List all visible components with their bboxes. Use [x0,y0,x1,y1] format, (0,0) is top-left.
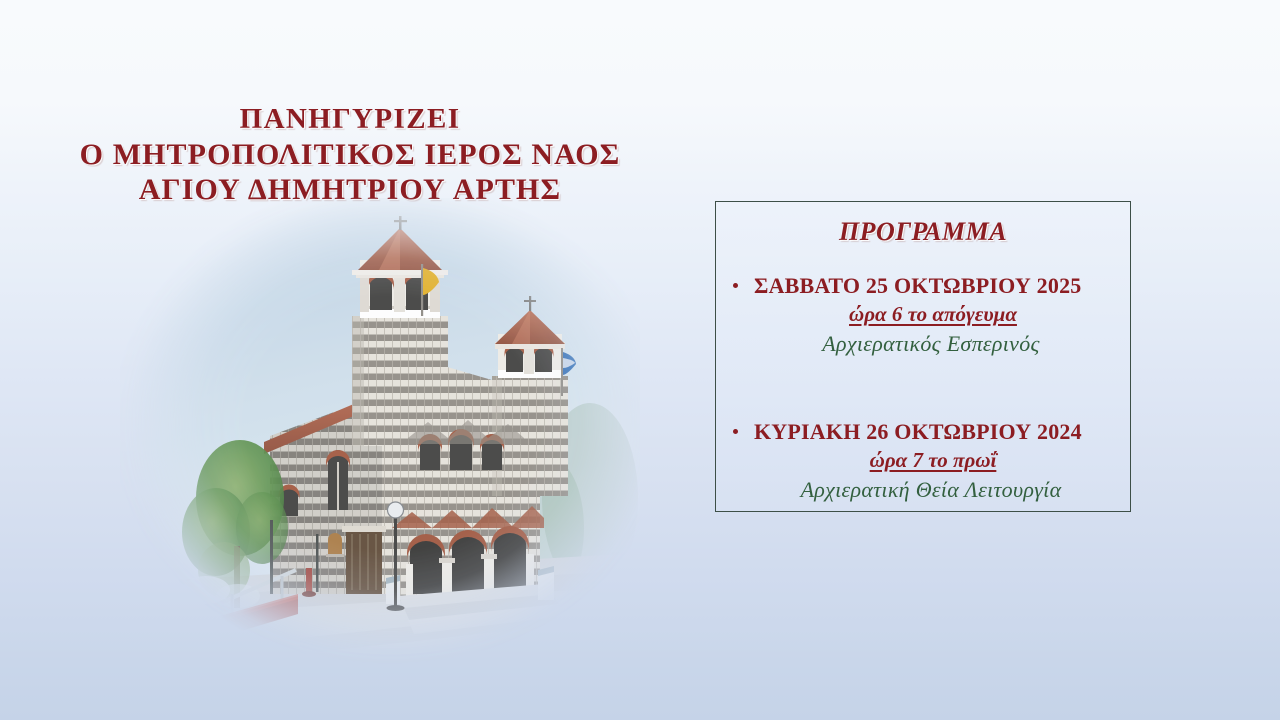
page-title: ΠΑΝΗΓΥΡΙΖΕΙ Ο ΜΗΤΡΟΠΟΛΙΤΙΚΟΣ ΙΕΡΟΣ ΝΑΟΣ … [0,104,700,206]
poster-slide: ΠΑΝΗΓΥΡΙΖΕΙ Ο ΜΗΤΡΟΠΟΛΙΤΙΚΟΣ ΙΕΡΟΣ ΝΑΟΣ … [0,0,1280,720]
entry-1-date: ΣΑΒΒΑΤΟ 25 ΟΚΤΩΒΡΙΟΥ 2025 [754,273,1081,299]
entry-2-headline: ΚΥΡΙΑΚΗ 26 ΟΚΤΩΒΡΙΟΥ 2024 [716,419,1130,445]
church-photo [120,198,640,668]
entry-2-service: Αρχιερατική Θεία Λειτουργία [716,477,1130,503]
title-line-2: Ο ΜΗΤΡΟΠΟΛΙΤΙΚΟΣ ΙΕΡΟΣ ΝΑΟΣ [0,138,700,171]
program-entry-1: ΣΑΒΒΑΤΟ 25 ΟΚΤΩΒΡΙΟΥ 2025 ώρα 6 το απόγε… [716,273,1130,357]
program-box: ΠΡΟΓΡΑΜΜΑ ΣΑΒΒΑΤΟ 25 ΟΚΤΩΒΡΙΟΥ 2025 ώρα … [715,201,1131,512]
entry-1-time: ώρα 6 το απόγευμα [716,302,1130,327]
entry-2-date: ΚΥΡΙΑΚΗ 26 ΟΚΤΩΒΡΙΟΥ 2024 [754,419,1082,445]
title-line-1: ΠΑΝΗΓΥΡΙΖΕΙ [0,104,700,136]
church-illustration [120,198,640,668]
program-entry-2: ΚΥΡΙΑΚΗ 26 ΟΚΤΩΒΡΙΟΥ 2024 ώρα 7 το πρωΐ … [716,419,1130,503]
entry-1-service: Αρχιερατικός Εσπερινός [716,331,1130,357]
entry-2-time: ώρα 7 το πρωΐ [716,448,1130,473]
bullet-icon [733,283,738,288]
entry-1-headline: ΣΑΒΒΑΤΟ 25 ΟΚΤΩΒΡΙΟΥ 2025 [716,273,1130,299]
program-heading: ΠΡΟΓΡΑΜΜΑ [716,217,1130,247]
bullet-icon [733,429,738,434]
